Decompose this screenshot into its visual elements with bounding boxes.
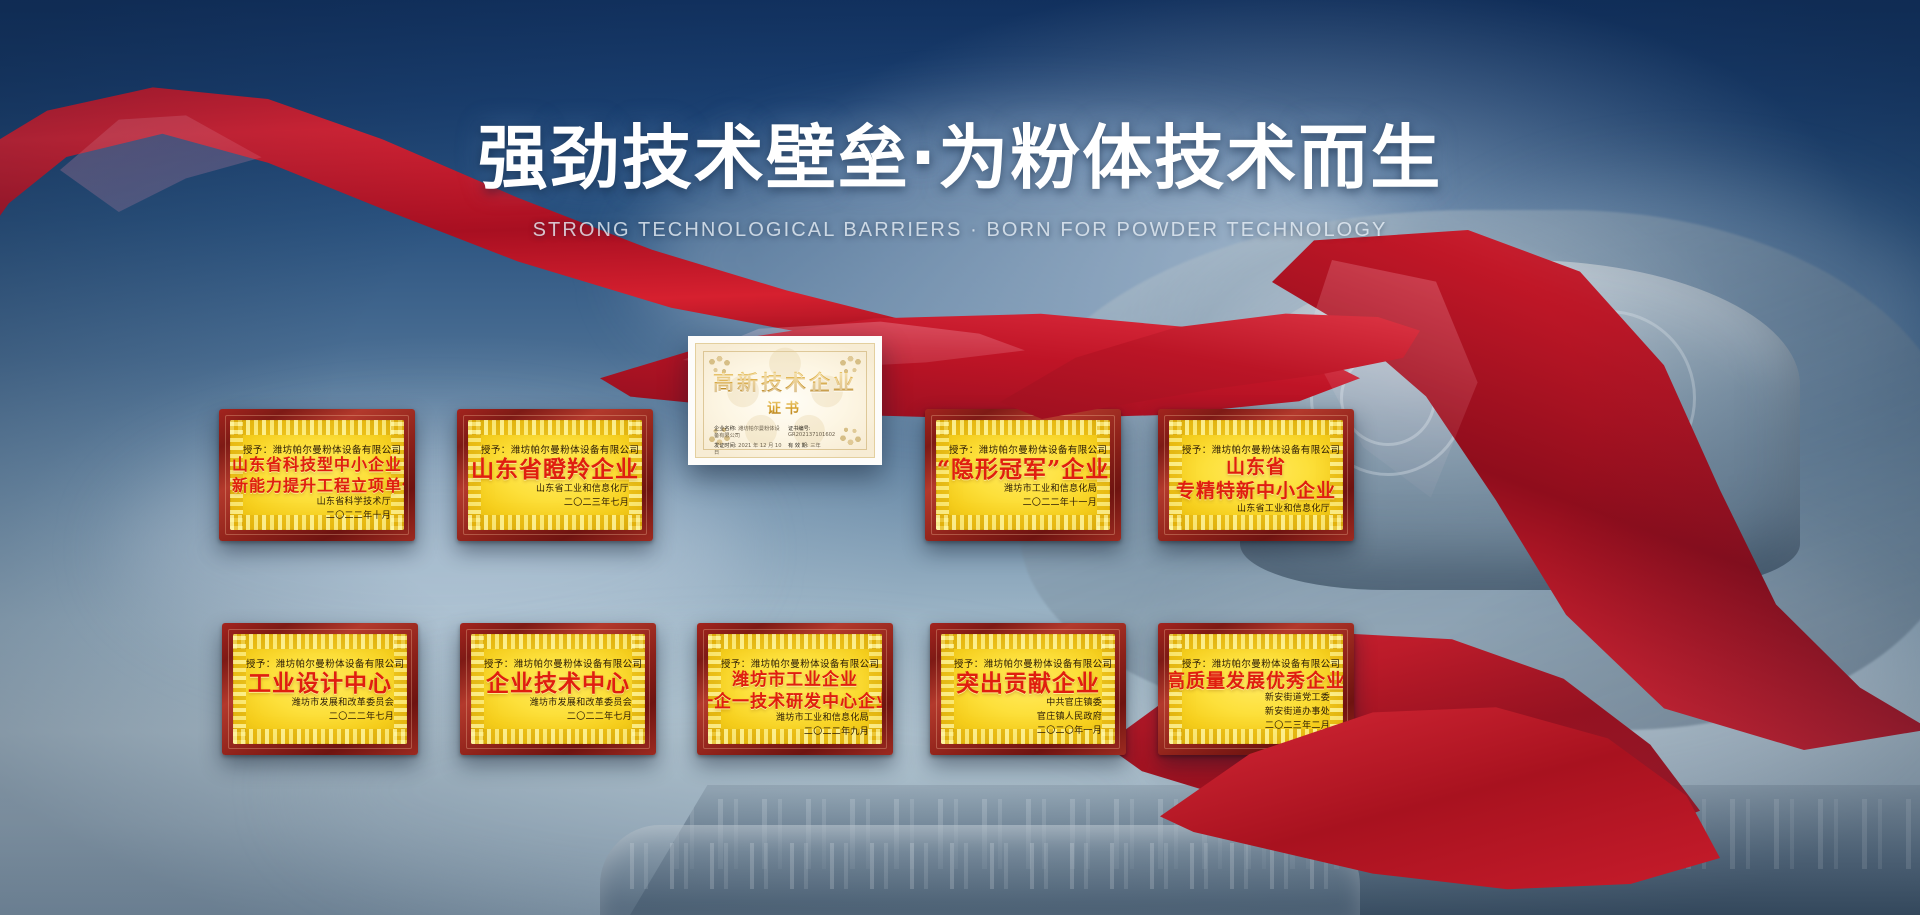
award-plaque[interactable]: 授予：潍坊帕尔曼粉体设备有限公司山东省瞪羚企业山东省工业和信息化厅二〇二三年七月	[457, 409, 653, 541]
plaque-issuer-block: 中共官庄镇委官庄镇人民政府二〇二〇年一月	[954, 697, 1102, 739]
certificate-field: 发证时间: 2021 年 12 月 10 日	[714, 442, 782, 456]
plaque-pleat-right	[1102, 634, 1115, 744]
plaque-award-line: 潍坊市工业企业	[732, 670, 858, 690]
plaque-pleat-right	[632, 634, 645, 744]
plaque-pleat-right	[391, 420, 404, 530]
plaque-award-line: 突出贡献企业	[956, 670, 1100, 697]
plaque-face: 授予：潍坊帕尔曼粉体设备有限公司工业设计中心潍坊市发展和改革委员会二〇二二年七月	[233, 634, 407, 744]
plaque-award-title: “隐形冠军”企业	[949, 456, 1097, 483]
plaque-issuer: 潍坊市工业和信息化局	[721, 712, 869, 726]
plaque-date: 二〇二〇年一月	[954, 725, 1102, 739]
certificate-field-value: 三年	[810, 443, 820, 449]
plaque-award-title: 突出贡献企业	[954, 670, 1102, 697]
plaque-award-title: 高质量发展优秀企业	[1182, 670, 1330, 692]
plaque-award-title: 山东省专精特新中小企业	[1182, 456, 1330, 503]
certificate-field: 有 效 期: 三年	[788, 442, 856, 456]
plaque-grantee: 授予：潍坊帕尔曼粉体设备有限公司	[243, 442, 391, 456]
plaque-grantee: 授予：潍坊帕尔曼粉体设备有限公司	[949, 442, 1097, 456]
certificate-field-key: 有 效 期:	[788, 443, 809, 449]
plaque-face: 授予：潍坊帕尔曼粉体设备有限公司山东省科技型中小企业创新能力提升工程立项单位山东…	[230, 420, 404, 530]
plaque-award-title: 山东省科技型中小企业创新能力提升工程立项单位	[243, 456, 391, 496]
plaque-issuer-block: 潍坊市工业和信息化局二〇二二年十一月	[949, 483, 1097, 511]
plaque-issuer: 新安街道办事处	[1182, 706, 1330, 720]
plaque-pleat-left	[1169, 420, 1182, 530]
plaque-issuer: 新安街道党工委	[1182, 692, 1330, 706]
award-plaque[interactable]: 授予：潍坊帕尔曼粉体设备有限公司突出贡献企业中共官庄镇委官庄镇人民政府二〇二〇年…	[930, 623, 1126, 755]
plaque-issuer-block: 山东省工业和信息化厅二〇二三年七月	[481, 483, 629, 511]
certificate-fields: 企业名称: 潍坊帕尔曼粉体设备有限公司证书编号: GR202137101602发…	[696, 425, 874, 458]
certificate-title: 高新技术企业	[713, 367, 857, 397]
certificate-field-key: 发证时间:	[714, 443, 737, 449]
plaque-award-line: 企业技术中心	[486, 670, 630, 697]
plaque-date: 二〇二二年七月	[484, 711, 632, 725]
plaque-award-title: 山东省瞪羚企业	[481, 456, 629, 483]
plaque-issuer: 山东省工业和信息化厅	[1182, 503, 1330, 517]
certificate-field-key: 企业名称:	[714, 426, 737, 432]
plaque-award-line: “隐形冠军”企业	[937, 456, 1109, 483]
plaque-pleat-right	[394, 634, 407, 744]
plaque-issuer: 中共官庄镇委	[954, 697, 1102, 711]
plaque-issuer: 潍坊市工业和信息化局	[949, 483, 1097, 497]
plaque-grantee: 授予：潍坊帕尔曼粉体设备有限公司	[481, 442, 629, 456]
award-plaque[interactable]: 授予：潍坊帕尔曼粉体设备有限公司企业技术中心潍坊市发展和改革委员会二〇二二年七月	[460, 623, 656, 755]
plaque-issuer: 山东省科学技术厅	[243, 496, 391, 510]
plaque-grantee: 授予：潍坊帕尔曼粉体设备有限公司	[1182, 442, 1330, 456]
plaque-face: 授予：潍坊帕尔曼粉体设备有限公司高质量发展优秀企业新安街道党工委新安街道办事处二…	[1169, 634, 1343, 744]
plaque-grantee: 授予：潍坊帕尔曼粉体设备有限公司	[1182, 656, 1330, 670]
award-plaque[interactable]: 授予：潍坊帕尔曼粉体设备有限公司高质量发展优秀企业新安街道党工委新安街道办事处二…	[1158, 623, 1354, 755]
plaque-award-line: 一企一技术研发中心企业	[708, 692, 882, 712]
award-plaque[interactable]: 授予：潍坊帕尔曼粉体设备有限公司山东省专精特新中小企业山东省工业和信息化厅	[1158, 409, 1354, 541]
certificate-field: 证书编号: GR202137101602	[788, 425, 856, 439]
plaque-pleat-left	[708, 634, 721, 744]
plaque-issuer-block: 潍坊市发展和改革委员会二〇二二年七月	[484, 697, 632, 725]
plaque-issuer: 山东省工业和信息化厅	[481, 483, 629, 497]
plaque-issuer: 潍坊市发展和改革委员会	[484, 697, 632, 711]
plaque-issuer-block: 潍坊市工业和信息化局二〇二二年九月	[721, 712, 869, 740]
award-plaque[interactable]: 授予：潍坊帕尔曼粉体设备有限公司工业设计中心潍坊市发展和改革委员会二〇二二年七月	[222, 623, 418, 755]
plaque-issuer: 官庄镇人民政府	[954, 711, 1102, 725]
plaque-pleat-right	[869, 634, 882, 744]
banner-stage: 强劲技术壁垒·为粉体技术而生 STRONG TECHNOLOGICAL BARR…	[0, 0, 1920, 915]
certificate-gallery: 授予：潍坊帕尔曼粉体设备有限公司山东省科技型中小企业创新能力提升工程立项单位山东…	[0, 0, 1920, 915]
plaque-award-title: 企业技术中心	[484, 670, 632, 697]
award-plaque[interactable]: 授予：潍坊帕尔曼粉体设备有限公司“隐形冠军”企业潍坊市工业和信息化局二〇二二年十…	[925, 409, 1121, 541]
plaque-date: 二〇二二年十月	[243, 510, 391, 524]
plaque-award-line: 山东省	[1226, 456, 1286, 478]
plaque-date: 二〇二三年二月	[1182, 720, 1330, 734]
plaque-award-line: 高质量发展优秀企业	[1169, 670, 1343, 692]
plaque-pleat-right	[1330, 420, 1343, 530]
plaque-grantee: 授予：潍坊帕尔曼粉体设备有限公司	[721, 656, 869, 670]
plaque-award-line: 工业设计中心	[248, 670, 392, 697]
plaque-face: 授予：潍坊帕尔曼粉体设备有限公司企业技术中心潍坊市发展和改革委员会二〇二二年七月	[471, 634, 645, 744]
plaque-issuer: 潍坊市发展和改革委员会	[246, 697, 394, 711]
plaque-issuer-block: 山东省工业和信息化厅	[1182, 503, 1330, 517]
plaque-award-line: 山东省科技型中小企业	[232, 456, 402, 475]
certificate-field: 企业名称: 潍坊帕尔曼粉体设备有限公司	[714, 425, 782, 439]
plaque-face: 授予：潍坊帕尔曼粉体设备有限公司潍坊市工业企业一企一技术研发中心企业潍坊市工业和…	[708, 634, 882, 744]
plaque-grantee: 授予：潍坊帕尔曼粉体设备有限公司	[954, 656, 1102, 670]
plaque-award-title: 工业设计中心	[246, 670, 394, 697]
award-plaque[interactable]: 授予：潍坊帕尔曼粉体设备有限公司山东省科技型中小企业创新能力提升工程立项单位山东…	[219, 409, 415, 541]
certificate-field-value: GR202137101602	[788, 432, 835, 438]
plaque-issuer-block: 新安街道党工委新安街道办事处二〇二三年二月	[1182, 692, 1330, 734]
plaque-issuer-block: 潍坊市发展和改革委员会二〇二二年七月	[246, 697, 394, 725]
plaque-pleat-left	[471, 634, 484, 744]
plaque-face: 授予：潍坊帕尔曼粉体设备有限公司山东省瞪羚企业山东省工业和信息化厅二〇二三年七月	[468, 420, 642, 530]
certificate-face: 高新技术企业证书企业名称: 潍坊帕尔曼粉体设备有限公司证书编号: GR20213…	[695, 343, 875, 458]
certificate-subtitle: 证书	[767, 398, 803, 418]
plaque-face: 授予：潍坊帕尔曼粉体设备有限公司“隐形冠军”企业潍坊市工业和信息化局二〇二二年十…	[936, 420, 1110, 530]
plaque-award-title: 潍坊市工业企业一企一技术研发中心企业	[721, 670, 869, 712]
plaque-face: 授予：潍坊帕尔曼粉体设备有限公司突出贡献企业中共官庄镇委官庄镇人民政府二〇二〇年…	[941, 634, 1115, 744]
plaque-award-line: 创新能力提升工程立项单位	[230, 477, 404, 496]
plaque-pleat-left	[230, 420, 243, 530]
plaque-grantee: 授予：潍坊帕尔曼粉体设备有限公司	[246, 656, 394, 670]
plaque-issuer-block: 山东省科学技术厅二〇二二年十月	[243, 496, 391, 524]
plaque-face: 授予：潍坊帕尔曼粉体设备有限公司山东省专精特新中小企业山东省工业和信息化厅	[1169, 420, 1343, 530]
high-tech-enterprise-certificate[interactable]: 高新技术企业证书企业名称: 潍坊帕尔曼粉体设备有限公司证书编号: GR20213…	[688, 336, 882, 465]
plaque-date: 二〇二二年九月	[721, 726, 869, 740]
plaque-date: 二〇二二年七月	[246, 711, 394, 725]
plaque-date: 二〇二三年七月	[481, 497, 629, 511]
plaque-award-line: 山东省瞪羚企业	[471, 456, 639, 483]
plaque-pleat-left	[941, 634, 954, 744]
plaque-date: 二〇二二年十一月	[949, 497, 1097, 511]
plaque-grantee: 授予：潍坊帕尔曼粉体设备有限公司	[484, 656, 632, 670]
plaque-award-line: 专精特新中小企业	[1176, 480, 1336, 502]
award-plaque[interactable]: 授予：潍坊帕尔曼粉体设备有限公司潍坊市工业企业一企一技术研发中心企业潍坊市工业和…	[697, 623, 893, 755]
plaque-pleat-left	[233, 634, 246, 744]
